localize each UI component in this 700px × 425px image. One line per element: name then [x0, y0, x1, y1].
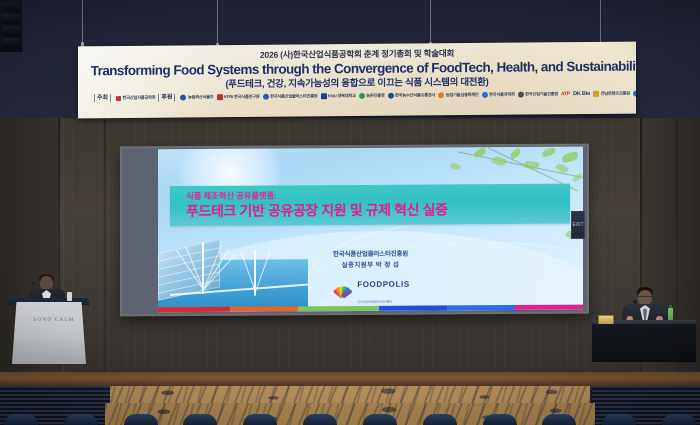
slide-bridge-artwork — [158, 231, 308, 312]
sponsor-logo: 한국식품산업클러스터진흥원 — [263, 92, 318, 100]
stage-vent-panel — [592, 386, 700, 425]
sponsor-logo: 한국식품과학회 — [482, 91, 515, 99]
lectern-body — [12, 302, 86, 364]
slide-leaf — [509, 148, 522, 160]
sponsor-logo: KFRI 한국식품연구원 — [217, 93, 260, 101]
presentation-slide: 식품 제조혁신 공유플랫폼: 푸드테크 기반 공유공장 지원 및 규제 혁신 실… — [158, 147, 583, 313]
banner-suspension-wire — [82, 0, 83, 45]
slide-title-band: 식품 제조혁신 공유플랫폼: 푸드테크 기반 공유공장 지원 및 규제 혁신 실… — [170, 184, 570, 226]
sponsor-logo: 농림축산식품부 — [180, 93, 213, 101]
sponsor-logo: 여수시 — [633, 89, 636, 97]
wall-seam — [104, 118, 106, 390]
sponsor-logo: ATP — [561, 90, 570, 98]
led-presentation-screen: 식품 제조혁신 공유플랫폼: 푸드테크 기반 공유공장 지원 및 규제 혁신 실… — [120, 144, 589, 317]
stage-front-edge — [0, 372, 700, 386]
foodpolis-fan-icon — [331, 286, 353, 297]
conference-banner: 2026 (사)한국산업식품공학회 춘계 정기총회 및 학술대회 Transfo… — [78, 42, 636, 119]
slide-leaf — [541, 148, 555, 158]
sponsor-logo: 한국농수산식품유통공사 — [388, 91, 436, 99]
slide-main-title-text: 푸드테크 기반 공유공장 지원 및 규제 혁신 실증 — [186, 199, 448, 221]
conference-hall-photo: 2026 (사)한국산업식품공학회 춘계 정기총회 및 학술대회 Transfo… — [0, 0, 700, 425]
exit-sign-label: EXIT — [572, 222, 583, 228]
foodpolis-logo: FOODPOLIS 한국식품산업클러스터진흥원 — [331, 275, 410, 307]
sponsor-logo: KNU 경북대학교 — [321, 92, 356, 100]
stage-step-lower — [105, 403, 595, 425]
head-table-skirt — [592, 324, 696, 362]
sponsor-logo: 농업기술실용화재단 — [438, 91, 478, 99]
sponsor-logo: 농촌진흥청 — [359, 92, 385, 100]
banner-suspension-wire — [217, 0, 218, 46]
banner-suspension-wire — [600, 0, 601, 45]
sponsor-logo: 한국산업기술진흥원 — [518, 90, 558, 98]
slide-leaf — [561, 152, 578, 163]
banner-suspension-wire — [430, 0, 431, 45]
stage-step-upper — [110, 386, 590, 403]
lectern-microphone-head — [32, 282, 35, 285]
slide-leaf — [449, 161, 461, 171]
lectern-with-presenter: SONO CALM — [4, 262, 104, 372]
table-microphone-head — [633, 300, 637, 304]
chairperson-glasses — [638, 296, 652, 300]
host-logo: 한국산업식품공학회 — [116, 94, 155, 102]
foodpolis-name: FOODPOLIS — [357, 280, 410, 289]
sponsor-logo: DK Bio — [573, 90, 590, 98]
ceiling-speaker-array — [0, 0, 23, 52]
exit-wall-sign: EXIT — [571, 211, 585, 239]
foodpolis-subtitle: 한국식품산업클러스터진흥원 — [357, 300, 392, 304]
lectern-cup — [67, 292, 72, 301]
foodpolis-wordmark: FOODPOLIS 한국식품산업클러스터진흥원 — [357, 275, 410, 307]
venue-logo-text: SONO CALM — [4, 317, 104, 323]
host-label: 주최 — [94, 94, 111, 102]
head-table-with-chairperson — [592, 272, 696, 372]
sponsor-logo: 전남콘텐츠진흥원 — [593, 90, 630, 98]
sponsor-label: 후원 — [158, 94, 175, 102]
slide-leaf — [523, 159, 540, 171]
